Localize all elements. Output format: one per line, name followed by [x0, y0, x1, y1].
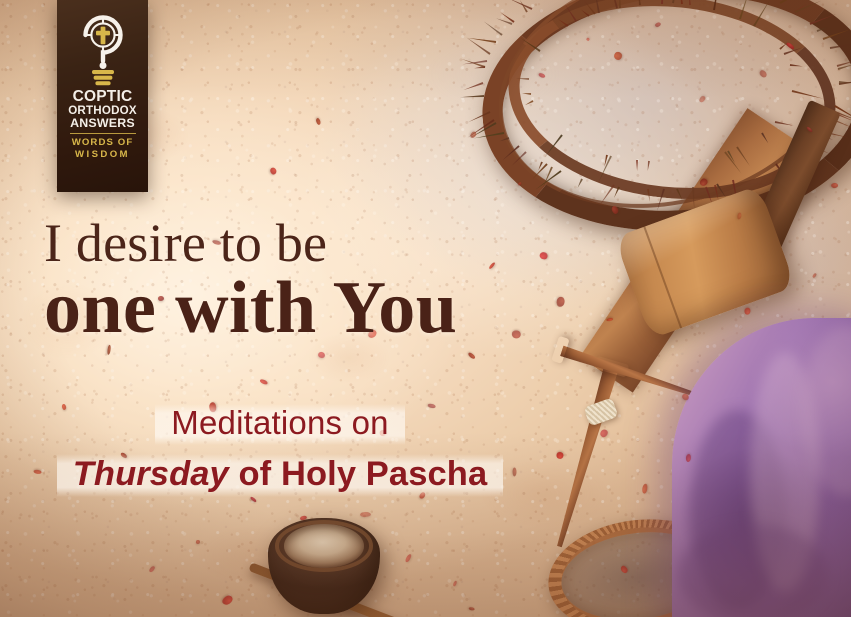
subtitle-line-2-rest: of Holy Pascha	[229, 455, 487, 493]
logo-badge[interactable]: COPTIC ORTHODOX ANSWERS WORDS OF WISDOM	[57, 0, 148, 192]
badge-tagline-wisdom: WISDOM	[57, 149, 148, 160]
headline-line-2: one with You	[44, 272, 644, 345]
subtitle-emphasis-day: Thursday	[73, 455, 229, 493]
badge-text-block: COPTIC ORTHODOX ANSWERS WORDS OF WISDOM	[57, 89, 148, 160]
subtitle-row-1: Meditations on	[0, 404, 560, 445]
badge-line-answers: ANSWERS	[57, 117, 148, 130]
question-mark-lightbulb-cross-icon	[72, 9, 134, 87]
badge-divider-rule	[70, 133, 136, 135]
subtitle-row-2: Thursday of Holy Pascha	[0, 454, 560, 497]
poster-canvas: COPTIC ORTHODOX ANSWERS WORDS OF WISDOM …	[0, 0, 851, 617]
headline-block: I desire to be one with You	[44, 216, 644, 345]
subtitle-block: Meditations on Thursday of Holy Pascha	[0, 404, 560, 497]
badge-tagline-words-of: WORDS OF	[57, 137, 148, 148]
subtitle-line-2: Thursday of Holy Pascha	[57, 454, 504, 497]
badge-line-coptic: COPTIC	[57, 89, 148, 105]
headline-line-1: I desire to be	[44, 216, 644, 270]
subtitle-line-1: Meditations on	[155, 404, 404, 445]
badge-line-orthodox: ORTHODOX	[57, 105, 148, 117]
